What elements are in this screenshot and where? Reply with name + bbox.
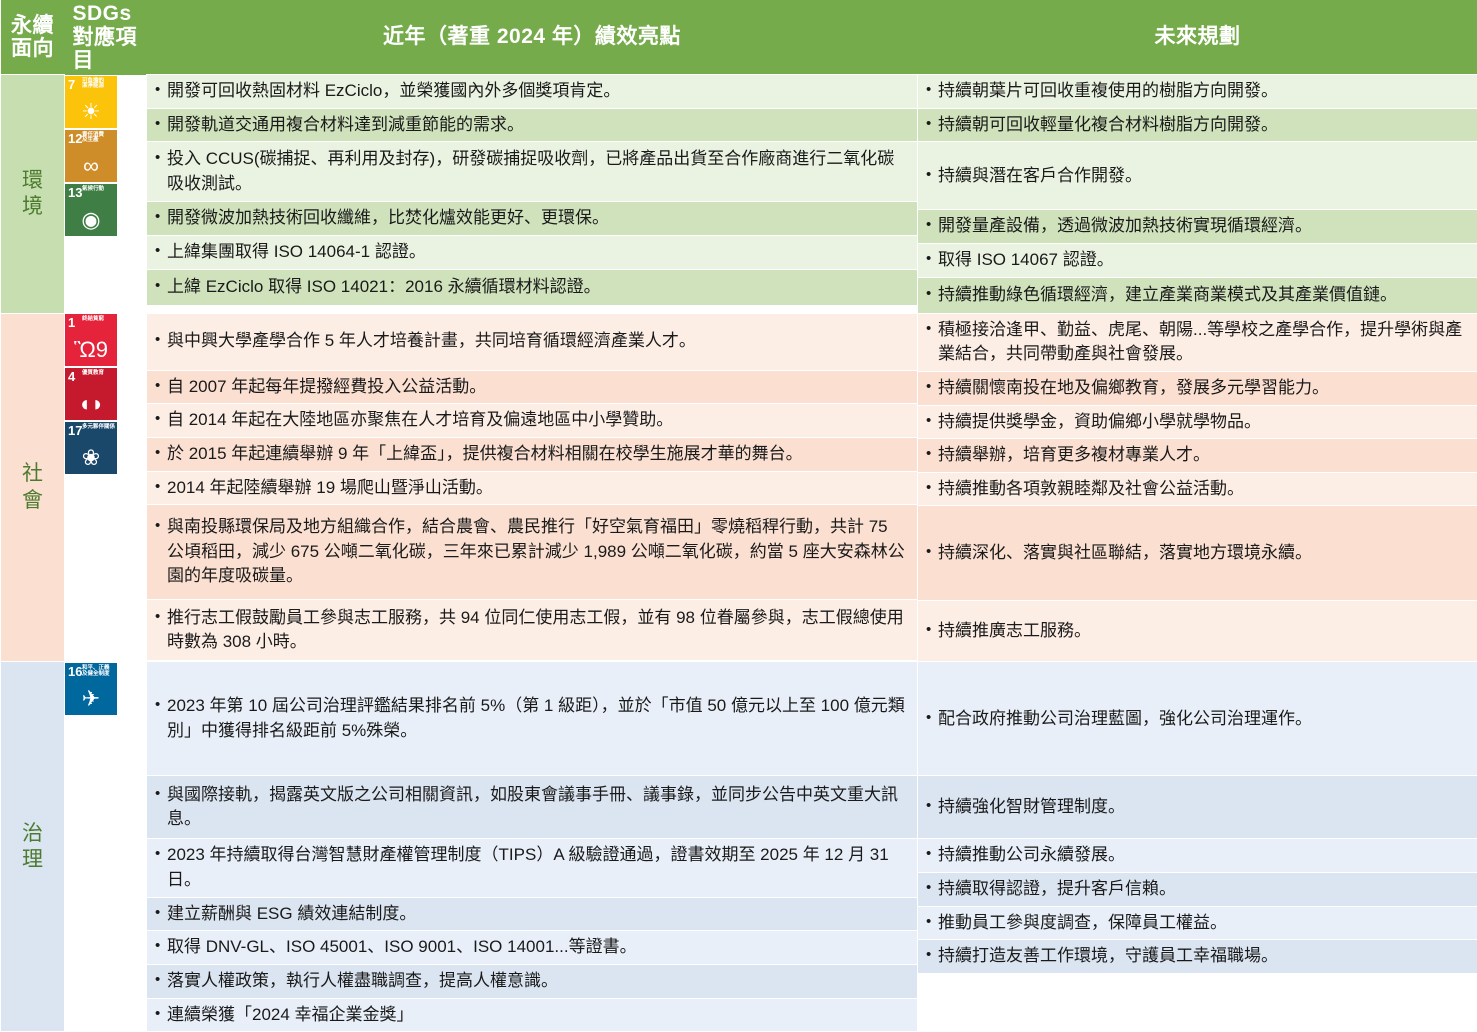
bullet-wrap: •與中興大學產學合作 5 年人才培養計畫，共同培育循環經濟產業人才。	[147, 314, 917, 370]
table-row: •持續打造友善工作環境，守護員工幸福職場。	[918, 940, 1477, 973]
bullet-cell: •2014 年起陸續舉辦 19 場爬山暨淨山活動。	[147, 471, 917, 505]
bullet-cell: •持續提供獎學金，資助偏鄉小學就學物品。	[918, 405, 1477, 439]
sdg-caption: 和平、正義及健全制度	[82, 666, 115, 678]
bullet-dot-icon: •	[155, 240, 167, 262]
bullet-dot-icon: •	[926, 376, 938, 398]
bullet-cell: •積極接洽逢甲、勤益、虎尾、朝陽...等學校之產學合作，提升學術與產業結合，共同…	[918, 314, 1477, 372]
section-row-environment: 環境7可負擔的潔淨能源☀12責任消費及生產∞13氣候行動◉•開發可回收熱固材料 …	[1, 75, 1477, 314]
bullet-text: 持續關懷南投在地及偏鄉教育，發展多元學習能力。	[938, 376, 1329, 401]
sdg-number: 1	[68, 316, 75, 329]
bullet-dot-icon: •	[926, 410, 938, 432]
table-row: •持續取得認證，提升客戶信賴。	[918, 873, 1477, 907]
table-row: •上緯 EzCiclo 取得 ISO 14021：2016 永續循環材料認證。	[147, 269, 917, 305]
sdg-stack: 1終結貧窮Ὣ94優質教育◖◗17多元夥伴關係❀	[66, 314, 116, 474]
bullet-item: •2014 年起陸續舉辦 19 場爬山暨淨山活動。	[147, 472, 501, 505]
table-row: •配合政府推動公司治理藍圖，強化公司治理運作。	[918, 662, 1477, 776]
bullet-item: •持續舉辦，培育更多複材專業人才。	[918, 439, 1218, 472]
bullet-dot-icon: •	[155, 694, 167, 716]
bullet-text: 積極接洽逢甲、勤益、虎尾、朝陽...等學校之產學合作，提升學術與產業結合，共同帶…	[938, 318, 1469, 367]
bullet-cell: •持續強化智財管理制度。	[918, 776, 1477, 839]
bullet-item: •與國際接軌，揭露英文版之公司相關資訊，如股東會議事手冊、議事錄，並同步公告中英…	[147, 779, 917, 836]
table-row: •自 2007 年起每年提撥經費投入公益活動。	[147, 370, 917, 404]
table-row: •2023 年持續取得台灣智慧財產權管理制度（TIPS）A 級驗證通過，證書效期…	[147, 839, 917, 897]
bullet-wrap: •開發可回收熱固材料 EzCiclo，並榮獲國內外多個獎項肯定。	[147, 75, 917, 108]
bullet-cell: •取得 DNV-GL、ISO 45001、ISO 9001、ISO 14001.…	[147, 931, 917, 965]
bullet-item: •自 2014 年起在大陸地區亦聚焦在人才培育及偏遠地區中小學贊助。	[147, 404, 681, 437]
bullet-wrap: •2023 年第 10 屆公司治理評鑑結果排名前 5%（第 1 級距），並於「市…	[147, 662, 917, 775]
bullet-cell: •持續與潛在客戶合作開發。	[918, 142, 1477, 210]
bullet-cell: •與國際接軌，揭露英文版之公司相關資訊，如股東會議事手冊、議事錄，並同步公告中英…	[147, 776, 917, 839]
table-row: •與南投縣環保局及地方組織合作，結合農會、農民推行「好空氣育福田」零燒稻稈行動，…	[147, 505, 917, 600]
bullet-cell: •取得 ISO 14067 認證。	[918, 243, 1477, 277]
bullet-dot-icon: •	[926, 79, 938, 101]
bullet-item: •持續推動各項敦親睦鄰及社會公益活動。	[918, 473, 1252, 506]
bullet-dot-icon: •	[155, 329, 167, 351]
table-row: •開發軌道交通用複合材料達到減重節能的需求。	[147, 108, 917, 142]
aspect-label-text: 環境	[1, 168, 64, 221]
bullet-cell: •2023 年第 10 屆公司治理評鑑結果排名前 5%（第 1 級距），並於「市…	[147, 662, 917, 776]
bullet-item: •持續推動公司永續發展。	[918, 839, 1133, 872]
bullet-cell: •連續榮獲「2024 幸福企業金獎」	[147, 998, 917, 1031]
bullet-wrap: •持續與潛在客戶合作開發。	[918, 142, 1477, 209]
bullet-item: •持續推廣志工服務。	[918, 615, 1099, 648]
header-future: 未來規劃	[918, 0, 1477, 75]
bullet-cell: •持續朝葉片可回收重複使用的樹脂方向開發。	[918, 75, 1477, 108]
people-icon: Ὣ9	[65, 339, 117, 361]
bullet-wrap: •自 2014 年起在大陸地區亦聚焦在人才培育及偏遠地區中小學贊助。	[147, 404, 917, 437]
bullet-wrap: •持續推廣志工服務。	[918, 601, 1477, 661]
table-row: •持續推動各項敦親睦鄰及社會公益活動。	[918, 472, 1477, 506]
bullet-dot-icon: •	[926, 477, 938, 499]
bullet-wrap: •持續取得認證，提升客戶信賴。	[918, 873, 1477, 906]
bullet-text: 於 2015 年起連續舉辦 9 年「上緯盃」，提供複合材料相關在校學生施展才華的…	[167, 442, 803, 467]
table-row: •於 2015 年起連續舉辦 9 年「上緯盃」，提供複合材料相關在校學生施展才華…	[147, 437, 917, 471]
sdg-caption: 多元夥伴關係	[82, 425, 115, 431]
bullet-cell: •開發軌道交通用複合材料達到減重節能的需求。	[147, 108, 917, 142]
bullet-wrap: •持續舉辦，培育更多複材專業人才。	[918, 439, 1477, 472]
bullet-item: •配合政府推動公司治理藍圖，強化公司治理運作。	[918, 703, 1320, 736]
sdg-badge-7: 7可負擔的潔淨能源☀	[65, 76, 117, 128]
bullet-dot-icon: •	[155, 476, 167, 498]
bullet-text: 持續朝可回收輕量化複合材料樹脂方向開發。	[938, 113, 1278, 138]
infinity-icon: ∞	[65, 155, 117, 177]
bullet-cell: •持續關懷南投在地及偏鄉教育，發展多元學習能力。	[918, 371, 1477, 405]
bullet-cell: •與南投縣環保局及地方組織合作，結合農會、農民推行「好空氣育福田」零燒稻稈行動，…	[147, 505, 917, 600]
bullet-text: 持續強化智財管理制度。	[938, 795, 1125, 820]
bullet-item: •與中興大學產學合作 5 年人才培養計畫，共同培育循環經濟產業人才。	[147, 325, 704, 358]
bullet-text: 建立薪酬與 ESG 績效連結制度。	[167, 902, 416, 927]
table-row: •持續與潛在客戶合作開發。	[918, 142, 1477, 210]
bullet-wrap: •持續朝葉片可回收重複使用的樹脂方向開發。	[918, 75, 1477, 108]
bullet-cell: •自 2007 年起每年提撥經費投入公益活動。	[147, 370, 917, 404]
header-sdg-line1: SDGs	[73, 2, 143, 26]
bullet-dot-icon: •	[155, 606, 167, 628]
bullet-text: 2023 年第 10 屆公司治理評鑑結果排名前 5%（第 1 級距），並於「市值…	[167, 694, 909, 743]
bullet-item: •推動員工參與度調查，保障員工權益。	[918, 907, 1235, 940]
table-header: 永續 面向 SDGs 對應項目 近年（著重 2024 年）績效亮點 未來規劃	[1, 0, 1477, 75]
bullet-wrap: •積極接洽逢甲、勤益、虎尾、朝陽...等學校之產學合作，提升學術與產業結合，共同…	[918, 314, 1477, 371]
table-row: •落實人權政策，執行人權盡職調查，提高人權意識。	[147, 965, 917, 999]
bullet-item: •持續取得認證，提升客戶信賴。	[918, 873, 1184, 906]
bullet-cell: •投入 CCUS(碳捕捉、再利用及封存)，研發碳捕捉吸收劑，已將產品出貨至合作廠…	[147, 142, 917, 202]
table-row: •持續強化智財管理制度。	[918, 776, 1477, 839]
bullet-wrap: •上緯 EzCiclo 取得 ISO 14021：2016 永續循環材料認證。	[147, 270, 917, 305]
table-row: •推行志工假鼓勵員工參與志工服務，共 94 位同仁使用志工假，並有 98 位眷屬…	[147, 600, 917, 661]
bullet-cell: •上緯集團取得 ISO 14064-1 認證。	[147, 235, 917, 269]
aspect-label-text: 治理	[1, 821, 64, 874]
bullet-text: 與南投縣環保局及地方組織合作，結合農會、農民推行「好空氣育福田」零燒稻稈行動，共…	[167, 515, 909, 589]
future-cell-social: •積極接洽逢甲、勤益、虎尾、朝陽...等學校之產學合作，提升學術與產業結合，共同…	[918, 313, 1477, 662]
bullet-wrap: •2023 年持續取得台灣智慧財產權管理制度（TIPS）A 級驗證通過，證書效期…	[147, 839, 917, 896]
bullet-item: •於 2015 年起連續舉辦 9 年「上緯盃」，提供複合材料相關在校學生施展才華…	[147, 438, 811, 471]
sdg-number: 16	[68, 665, 82, 678]
bullet-dot-icon: •	[155, 147, 167, 169]
header-sdg: SDGs 對應項目	[65, 0, 147, 75]
bullet-dot-icon: •	[155, 969, 167, 991]
bullet-wrap: •上緯集團取得 ISO 14064-1 認證。	[147, 236, 917, 269]
bullet-text: 持續舉辦，培育更多複材專業人才。	[938, 443, 1210, 468]
bullet-text: 上緯集團取得 ISO 14064-1 認證。	[167, 240, 426, 265]
future-list-governance: •配合政府推動公司治理藍圖，強化公司治理運作。•持續強化智財管理制度。•持續推動…	[918, 662, 1477, 973]
bullet-text: 持續取得認證，提升客戶信賴。	[938, 877, 1176, 902]
bullet-text: 開發可回收熱固材料 EzCiclo，並榮獲國內外多個獎項肯定。	[167, 79, 620, 104]
bullet-dot-icon: •	[926, 541, 938, 563]
bullet-wrap: •與國際接軌，揭露英文版之公司相關資訊，如股東會議事手冊、議事錄，並同步公告中英…	[147, 776, 917, 838]
bullet-item: •與南投縣環保局及地方組織合作，結合農會、農民推行「好空氣育福田」零燒稻稈行動，…	[147, 511, 917, 593]
book-icon: ◖◗	[65, 393, 117, 415]
bullet-text: 連續榮獲「2024 幸福企業金獎」	[167, 1003, 414, 1028]
bullet-cell: •持續推廣志工服務。	[918, 601, 1477, 662]
table-row: •開發微波加熱技術回收纖維，比焚化爐效能更好、更環保。	[147, 202, 917, 236]
bullet-wrap: •取得 ISO 14067 認證。	[918, 244, 1477, 277]
bullet-item: •持續提供獎學金，資助偏鄉小學就學物品。	[918, 406, 1269, 439]
table-row: •自 2014 年起在大陸地區亦聚焦在人才培育及偏遠地區中小學贊助。	[147, 404, 917, 438]
bullet-wrap: •持續提供獎學金，資助偏鄉小學就學物品。	[918, 406, 1477, 439]
bullet-dot-icon: •	[155, 935, 167, 957]
bullet-text: 與中興大學產學合作 5 年人才培養計畫，共同培育循環經濟產業人才。	[167, 329, 696, 354]
bullet-dot-icon: •	[155, 275, 167, 297]
bullet-text: 開發量產設備，透過微波加熱技術實現循環經濟。	[938, 214, 1312, 239]
bullet-text: 持續推動公司永續發展。	[938, 843, 1125, 868]
sdg-badge-17: 17多元夥伴關係❀	[65, 422, 117, 474]
bullet-dot-icon: •	[155, 408, 167, 430]
bullet-text: 推動員工參與度調查，保障員工權益。	[938, 911, 1227, 936]
bullet-text: 2014 年起陸續舉辦 19 場爬山暨淨山活動。	[167, 476, 493, 501]
table-row: •持續深化、落實與社區聯結，落實地方環境永續。	[918, 506, 1477, 601]
bullet-cell: •自 2014 年起在大陸地區亦聚焦在人才培育及偏遠地區中小學贊助。	[147, 404, 917, 438]
bullet-wrap: •持續推動各項敦親睦鄰及社會公益活動。	[918, 473, 1477, 506]
future-cell-governance: •配合政府推動公司治理藍圖，強化公司治理運作。•持續強化智財管理制度。•持續推動…	[918, 662, 1477, 1032]
bullet-cell: •開發微波加熱技術回收纖維，比焚化爐效能更好、更環保。	[147, 202, 917, 236]
bullet-dot-icon: •	[155, 375, 167, 397]
eye-earth-icon: ◉	[65, 209, 117, 231]
header-aspect-line1: 永續	[5, 14, 61, 38]
section-row-governance: 治理16和平、正義及健全制度✈•2023 年第 10 屆公司治理評鑑結果排名前 …	[1, 662, 1477, 1032]
bullet-item: •持續深化、落實與社區聯結，落實地方環境永續。	[918, 537, 1320, 570]
bullet-wrap: •落實人權政策，執行人權盡職調查，提高人權意識。	[147, 965, 917, 998]
table-row: •持續推動公司永續發展。	[918, 839, 1477, 873]
sdg-stack: 16和平、正義及健全制度✈	[66, 663, 116, 715]
bullet-wrap: •於 2015 年起連續舉辦 9 年「上緯盃」，提供複合材料相關在校學生施展才華…	[147, 438, 917, 471]
bullet-text: 持續推動綠色循環經濟，建立產業商業模式及其產業價值鏈。	[938, 283, 1397, 308]
performance-cell-social: •與中興大學產學合作 5 年人才培養計畫，共同培育循環經濟產業人才。•自 200…	[147, 313, 918, 662]
future-list-social: •積極接洽逢甲、勤益、虎尾、朝陽...等學校之產學合作，提升學術與產業結合，共同…	[918, 314, 1477, 662]
bullet-dot-icon: •	[926, 443, 938, 465]
bullet-item: •持續朝可回收輕量化複合材料樹脂方向開發。	[918, 109, 1286, 142]
sdg-caption: 氣候行動	[82, 187, 115, 193]
aspect-label-governance: 治理	[1, 662, 65, 1032]
bullet-text: 持續打造友善工作環境，守護員工幸福職場。	[938, 944, 1278, 969]
bullet-wrap: •連續榮獲「2024 幸福企業金獎」	[147, 999, 917, 1032]
bullet-text: 配合政府推動公司治理藍圖，強化公司治理運作。	[938, 707, 1312, 732]
sun-icon: ☀	[65, 101, 117, 123]
bullet-dot-icon: •	[926, 877, 938, 899]
bullet-item: •取得 DNV-GL、ISO 45001、ISO 9001、ISO 14001.…	[147, 931, 645, 964]
bullet-text: 自 2014 年起在大陸地區亦聚焦在人才培育及偏遠地區中小學贊助。	[167, 408, 673, 433]
sdg-badge-16: 16和平、正義及健全制度✈	[65, 663, 117, 715]
rings-icon: ❀	[65, 447, 117, 469]
bullet-cell: •配合政府推動公司治理藍圖，強化公司治理運作。	[918, 662, 1477, 776]
sdg-caption: 責任消費及生產	[82, 133, 115, 145]
bullet-item: •持續強化智財管理制度。	[918, 791, 1133, 824]
bullet-dot-icon: •	[155, 206, 167, 228]
table-row: •持續朝可回收輕量化複合材料樹脂方向開發。	[918, 108, 1477, 142]
bullet-cell: •推動員工參與度調查，保障員工權益。	[918, 906, 1477, 940]
bullet-item: •開發軌道交通用複合材料達到減重節能的需求。	[147, 109, 532, 142]
bullet-text: 持續朝葉片可回收重複使用的樹脂方向開發。	[938, 79, 1278, 104]
sdg-caption: 終結貧窮	[82, 317, 115, 323]
bullet-wrap: •投入 CCUS(碳捕捉、再利用及封存)，研發碳捕捉吸收劑，已將產品出貨至合作廠…	[147, 142, 917, 201]
bullet-cell: •開發可回收熱固材料 EzCiclo，並榮獲國內外多個獎項肯定。	[147, 75, 917, 108]
aspect-label-social: 社會	[1, 313, 65, 662]
bullet-wrap: •持續打造友善工作環境，守護員工幸福職場。	[918, 940, 1477, 973]
sdg-number: 7	[68, 78, 75, 91]
bullet-dot-icon: •	[926, 214, 938, 236]
performance-list-social: •與中興大學產學合作 5 年人才培養計畫，共同培育循環經濟產業人才。•自 200…	[147, 314, 917, 661]
bullet-text: 自 2007 年起每年提撥經費投入公益活動。	[167, 375, 486, 400]
sdg-badge-13: 13氣候行動◉	[65, 184, 117, 236]
section-row-social: 社會1終結貧窮Ὣ94優質教育◖◗17多元夥伴關係❀•與中興大學產學合作 5 年人…	[1, 313, 1477, 662]
bullet-cell: •與中興大學產學合作 5 年人才培養計畫，共同培育循環經濟產業人才。	[147, 314, 917, 371]
bullet-wrap: •開發軌道交通用複合材料達到減重節能的需求。	[147, 109, 917, 142]
bullet-dot-icon: •	[926, 707, 938, 729]
bullet-cell: •於 2015 年起連續舉辦 9 年「上緯盃」，提供複合材料相關在校學生施展才華…	[147, 437, 917, 471]
sdg-badge-4: 4優質教育◖◗	[65, 368, 117, 420]
bullet-dot-icon: •	[155, 783, 167, 805]
bullet-cell: •落實人權政策，執行人權盡職調查，提高人權意識。	[147, 965, 917, 999]
bullet-item: •持續推動綠色循環經濟，建立產業商業模式及其產業價值鏈。	[918, 279, 1405, 312]
bullet-item: •取得 ISO 14067 認證。	[918, 244, 1122, 277]
bullet-cell: •上緯 EzCiclo 取得 ISO 14021：2016 永續循環材料認證。	[147, 269, 917, 305]
bullet-dot-icon: •	[155, 902, 167, 924]
table-row: •上緯集團取得 ISO 14064-1 認證。	[147, 235, 917, 269]
bullet-cell: •2023 年持續取得台灣智慧財產權管理制度（TIPS）A 級驗證通過，證書效期…	[147, 839, 917, 897]
performance-list-governance: •2023 年第 10 屆公司治理評鑑結果排名前 5%（第 1 級距），並於「市…	[147, 662, 917, 1031]
bullet-wrap: •持續推動公司永續發展。	[918, 839, 1477, 872]
bullet-wrap: •持續強化智財管理制度。	[918, 776, 1477, 838]
header-aspect: 永續 面向	[1, 0, 65, 75]
table-row: •持續關懷南投在地及偏鄉教育，發展多元學習能力。	[918, 371, 1477, 405]
bullet-text: 取得 DNV-GL、ISO 45001、ISO 9001、ISO 14001..…	[167, 935, 637, 960]
bullet-wrap: •與南投縣環保局及地方組織合作，結合農會、農民推行「好空氣育福田」零燒稻稈行動，…	[147, 505, 917, 599]
sdg-cell-environment: 7可負擔的潔淨能源☀12責任消費及生產∞13氣候行動◉	[65, 75, 117, 127]
header-aspect-line2: 面向	[5, 37, 61, 61]
bullet-item: •2023 年第 10 屆公司治理評鑑結果排名前 5%（第 1 級距），並於「市…	[147, 690, 917, 747]
bullet-wrap: •自 2007 年起每年提撥經費投入公益活動。	[147, 371, 917, 404]
bullet-wrap: •持續深化、落實與社區聯結，落實地方環境永續。	[918, 506, 1477, 600]
sdg-caption: 可負擔的潔淨能源	[82, 79, 115, 91]
bullet-cell: •開發量產設備，透過微波加熱技術實現循環經濟。	[918, 210, 1477, 244]
sdg-cell-governance: 16和平、正義及健全制度✈	[65, 662, 117, 714]
bullet-dot-icon: •	[155, 113, 167, 135]
bullet-item: •開發微波加熱技術回收纖維，比焚化爐效能更好、更環保。	[147, 202, 617, 235]
sdg-stack: 7可負擔的潔淨能源☀12責任消費及生產∞13氣候行動◉	[66, 76, 116, 236]
sdg-caption: 優質教育	[82, 371, 115, 377]
bullet-text: 2023 年持續取得台灣智慧財產權管理制度（TIPS）A 級驗證通過，證書效期至…	[167, 843, 909, 892]
bullet-dot-icon: •	[926, 619, 938, 641]
esg-summary-table: 永續 面向 SDGs 對應項目 近年（著重 2024 年）績效亮點 未來規劃 環…	[0, 0, 1477, 1032]
sdg-number: 13	[68, 186, 82, 199]
table-body: 環境7可負擔的潔淨能源☀12責任消費及生產∞13氣候行動◉•開發可回收熱固材料 …	[1, 75, 1477, 1032]
table-row: •投入 CCUS(碳捕捉、再利用及封存)，研發碳捕捉吸收劑，已將產品出貨至合作廠…	[147, 142, 917, 202]
bullet-cell: •持續推動綠色循環經濟，建立產業商業模式及其產業價值鏈。	[918, 277, 1477, 313]
bullet-dot-icon: •	[155, 515, 167, 537]
table-row: •持續舉辦，培育更多複材專業人才。	[918, 439, 1477, 473]
bullet-dot-icon: •	[155, 442, 167, 464]
bullet-text: 持續深化、落實與社區聯結，落實地方環境永續。	[938, 541, 1312, 566]
bullet-item: •持續與潛在客戶合作開發。	[918, 160, 1150, 193]
bullet-item: •推行志工假鼓勵員工參與志工服務，共 94 位同仁使用志工假，並有 98 位眷屬…	[147, 602, 917, 659]
bullet-wrap: •持續關懷南投在地及偏鄉教育，發展多元學習能力。	[918, 372, 1477, 405]
bullet-cell: •持續推動公司永續發展。	[918, 839, 1477, 873]
aspect-label-text: 社會	[1, 461, 64, 514]
bullet-wrap: •配合政府推動公司治理藍圖，強化公司治理運作。	[918, 662, 1477, 775]
table-row: •與中興大學產學合作 5 年人才培養計畫，共同培育循環經濟產業人才。	[147, 314, 917, 371]
bullet-text: 開發軌道交通用複合材料達到減重節能的需求。	[167, 113, 524, 138]
bullet-cell: •持續舉辦，培育更多複材專業人才。	[918, 439, 1477, 473]
bullet-text: 開發微波加熱技術回收纖維，比焚化爐效能更好、更環保。	[167, 206, 609, 231]
bullet-text: 落實人權政策，執行人權盡職調查，提高人權意識。	[167, 969, 558, 994]
bullet-wrap: •持續朝可回收輕量化複合材料樹脂方向開發。	[918, 109, 1477, 142]
bullet-wrap: •推動員工參與度調查，保障員工權益。	[918, 907, 1477, 940]
performance-cell-environment: •開發可回收熱固材料 EzCiclo，並榮獲國內外多個獎項肯定。•開發軌道交通用…	[147, 75, 918, 314]
bullet-item: •建立薪酬與 ESG 績效連結制度。	[147, 898, 424, 931]
bullet-item: •2023 年持續取得台灣智慧財產權管理制度（TIPS）A 級驗證通過，證書效期…	[147, 839, 917, 896]
table-row: •連續榮獲「2024 幸福企業金獎」	[147, 998, 917, 1031]
future-list-environment: •持續朝葉片可回收重複使用的樹脂方向開發。•持續朝可回收輕量化複合材料樹脂方向開…	[918, 75, 1477, 313]
bullet-cell: •推行志工假鼓勵員工參與志工服務，共 94 位同仁使用志工假，並有 98 位眷屬…	[147, 600, 917, 661]
bullet-cell: •持續推動各項敦親睦鄰及社會公益活動。	[918, 472, 1477, 506]
bullet-text: 與國際接軌，揭露英文版之公司相關資訊，如股東會議事手冊、議事錄，並同步公告中英文…	[167, 783, 909, 832]
aspect-label-environment: 環境	[1, 75, 65, 314]
bullet-dot-icon: •	[926, 944, 938, 966]
bullet-dot-icon: •	[926, 911, 938, 933]
header-sdg-line2: 對應項目	[73, 26, 143, 73]
bullet-wrap: •建立薪酬與 ESG 績效連結制度。	[147, 898, 917, 931]
sdg-badge-12: 12責任消費及生產∞	[65, 130, 117, 182]
table-row: •建立薪酬與 ESG 績效連結制度。	[147, 897, 917, 931]
bullet-text: 持續提供獎學金，資助偏鄉小學就學物品。	[938, 410, 1261, 435]
bullet-item: •持續關懷南投在地及偏鄉教育，發展多元學習能力。	[918, 372, 1337, 405]
table-row: •開發可回收熱固材料 EzCiclo，並榮獲國內外多個獎項肯定。	[147, 75, 917, 108]
bullet-dot-icon: •	[926, 318, 938, 340]
bullet-cell: •建立薪酬與 ESG 績效連結制度。	[147, 897, 917, 931]
bullet-dot-icon: •	[926, 795, 938, 817]
bullet-text: 上緯 EzCiclo 取得 ISO 14021：2016 永續循環材料認證。	[167, 275, 601, 300]
table-row: •2023 年第 10 屆公司治理評鑑結果排名前 5%（第 1 級距），並於「市…	[147, 662, 917, 776]
bullet-wrap: •開發量產設備，透過微波加熱技術實現循環經濟。	[918, 210, 1477, 243]
table-row: •持續提供獎學金，資助偏鄉小學就學物品。	[918, 405, 1477, 439]
bullet-item: •持續朝葉片可回收重複使用的樹脂方向開發。	[918, 75, 1286, 108]
bullet-item: •上緯 EzCiclo 取得 ISO 14021：2016 永續循環材料認證。	[147, 271, 609, 304]
bullet-dot-icon: •	[926, 113, 938, 135]
sdg-number: 12	[68, 132, 82, 145]
bullet-wrap: •持續推動綠色循環經濟，建立產業商業模式及其產業價值鏈。	[918, 278, 1477, 313]
bullet-item: •開發量產設備，透過微波加熱技術實現循環經濟。	[918, 210, 1320, 243]
bullet-item: •落實人權政策，執行人權盡職調查，提高人權意識。	[147, 965, 566, 998]
bullet-item: •持續打造友善工作環境，守護員工幸福職場。	[918, 940, 1286, 973]
bullet-text: 持續推廣志工服務。	[938, 619, 1091, 644]
bullet-wrap: •2014 年起陸續舉辦 19 場爬山暨淨山活動。	[147, 472, 917, 505]
bullet-cell: •持續打造友善工作環境，守護員工幸福職場。	[918, 940, 1477, 973]
bullet-wrap: •推行志工假鼓勵員工參與志工服務，共 94 位同仁使用志工假，並有 98 位眷屬…	[147, 600, 917, 660]
bullet-dot-icon: •	[926, 164, 938, 186]
sdg-badge-1: 1終結貧窮Ὣ9	[65, 314, 117, 366]
esg-summary-table-page: 永續 面向 SDGs 對應項目 近年（著重 2024 年）績效亮點 未來規劃 環…	[0, 0, 1477, 853]
bullet-cell: •持續朝可回收輕量化複合材料樹脂方向開發。	[918, 108, 1477, 142]
bullet-text: 持續與潛在客戶合作開發。	[938, 164, 1142, 189]
table-row: •2014 年起陸續舉辦 19 場爬山暨淨山活動。	[147, 471, 917, 505]
bullet-item: •投入 CCUS(碳捕捉、再利用及封存)，研發碳捕捉吸收劑，已將產品出貨至合作廠…	[147, 143, 917, 200]
dove-icon: ✈	[65, 688, 117, 710]
bullet-dot-icon: •	[926, 283, 938, 305]
bullet-item: •自 2007 年起每年提撥經費投入公益活動。	[147, 371, 494, 404]
bullet-dot-icon: •	[155, 1003, 167, 1025]
bullet-item: •連續榮獲「2024 幸福企業金獎」	[147, 999, 422, 1032]
bullet-item: •開發可回收熱固材料 EzCiclo，並榮獲國內外多個獎項肯定。	[147, 75, 628, 108]
bullet-text: 持續推動各項敦親睦鄰及社會公益活動。	[938, 477, 1244, 502]
table-row: •積極接洽逢甲、勤益、虎尾、朝陽...等學校之產學合作，提升學術與產業結合，共同…	[918, 314, 1477, 372]
header-performance: 近年（著重 2024 年）績效亮點	[147, 0, 918, 75]
bullet-item: •上緯集團取得 ISO 14064-1 認證。	[147, 236, 434, 269]
performance-list-environment: •開發可回收熱固材料 EzCiclo，並榮獲國內外多個獎項肯定。•開發軌道交通用…	[147, 75, 917, 305]
performance-cell-governance: •2023 年第 10 屆公司治理評鑑結果排名前 5%（第 1 級距），並於「市…	[147, 662, 918, 1032]
table-row: •與國際接軌，揭露英文版之公司相關資訊，如股東會議事手冊、議事錄，並同步公告中英…	[147, 776, 917, 839]
sdg-number: 4	[68, 370, 75, 383]
table-row: •取得 ISO 14067 認證。	[918, 243, 1477, 277]
bullet-dot-icon: •	[155, 79, 167, 101]
bullet-dot-icon: •	[155, 843, 167, 865]
bullet-cell: •持續深化、落實與社區聯結，落實地方環境永續。	[918, 506, 1477, 601]
bullet-item: •積極接洽逢甲、勤益、虎尾、朝陽...等學校之產學合作，提升學術與產業結合，共同…	[918, 314, 1477, 371]
table-row: •持續推廣志工服務。	[918, 601, 1477, 662]
bullet-text: 投入 CCUS(碳捕捉、再利用及封存)，研發碳捕捉吸收劑，已將產品出貨至合作廠商…	[167, 147, 909, 196]
bullet-cell: •持續取得認證，提升客戶信賴。	[918, 873, 1477, 907]
sdg-cell-social: 1終結貧窮Ὣ94優質教育◖◗17多元夥伴關係❀	[65, 313, 117, 365]
sdg-number: 17	[68, 424, 82, 437]
table-row: •開發量產設備，透過微波加熱技術實現循環經濟。	[918, 210, 1477, 244]
bullet-text: 取得 ISO 14067 認證。	[938, 248, 1114, 273]
table-row: •推動員工參與度調查，保障員工權益。	[918, 906, 1477, 940]
future-cell-environment: •持續朝葉片可回收重複使用的樹脂方向開發。•持續朝可回收輕量化複合材料樹脂方向開…	[918, 75, 1477, 314]
table-row: •取得 DNV-GL、ISO 45001、ISO 9001、ISO 14001.…	[147, 931, 917, 965]
bullet-wrap: •開發微波加熱技術回收纖維，比焚化爐效能更好、更環保。	[147, 202, 917, 235]
bullet-wrap: •取得 DNV-GL、ISO 45001、ISO 9001、ISO 14001.…	[147, 931, 917, 964]
table-row: •持續朝葉片可回收重複使用的樹脂方向開發。	[918, 75, 1477, 108]
bullet-dot-icon: •	[926, 843, 938, 865]
bullet-dot-icon: •	[926, 248, 938, 270]
bullet-text: 推行志工假鼓勵員工參與志工服務，共 94 位同仁使用志工假，並有 98 位眷屬參…	[167, 606, 909, 655]
